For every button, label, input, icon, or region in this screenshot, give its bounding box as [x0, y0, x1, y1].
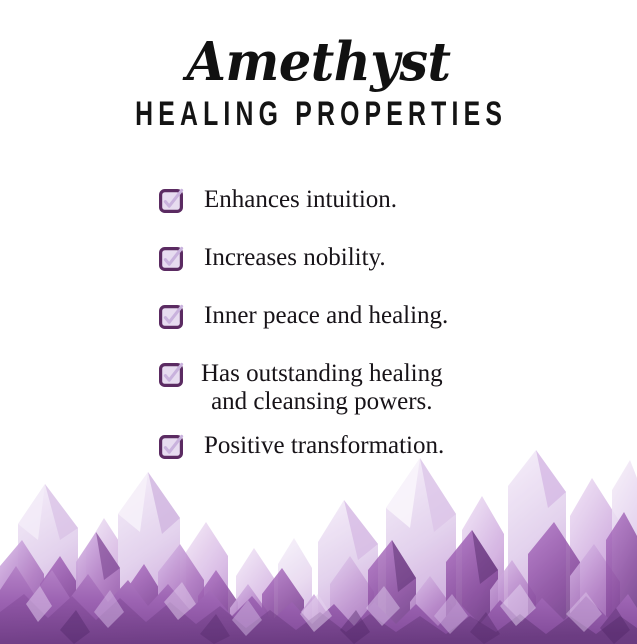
list-item: Has outstanding healing and cleansing po… [0, 360, 637, 416]
checkbox-checked-icon [159, 305, 183, 329]
poster-canvas: Amethyst HEALING PROPERTIES Enhances int… [0, 0, 637, 644]
list-item-label: Enhances intuition. [204, 186, 397, 213]
checkbox-checked-icon [159, 247, 183, 271]
list-item: Increases nobility. [0, 244, 637, 271]
poster-header: Amethyst HEALING PROPERTIES [0, 0, 637, 131]
checkbox-checked-icon [159, 189, 183, 213]
healing-properties-list: Enhances intuition. Increases nobility. … [0, 186, 637, 459]
amethyst-crystal-cluster-photo [0, 444, 637, 644]
page-title: Amethyst [13, 33, 625, 91]
list-item: Enhances intuition. [0, 186, 637, 213]
list-item: Inner peace and healing. [0, 302, 637, 329]
list-item-label: Increases nobility. [204, 244, 386, 271]
page-subtitle: HEALING PROPERTIES [64, 95, 574, 133]
list-item-label: Inner peace and healing. [204, 302, 448, 329]
list-item-label: Has outstanding healing and cleansing po… [201, 360, 443, 416]
checkbox-checked-icon [159, 363, 183, 387]
